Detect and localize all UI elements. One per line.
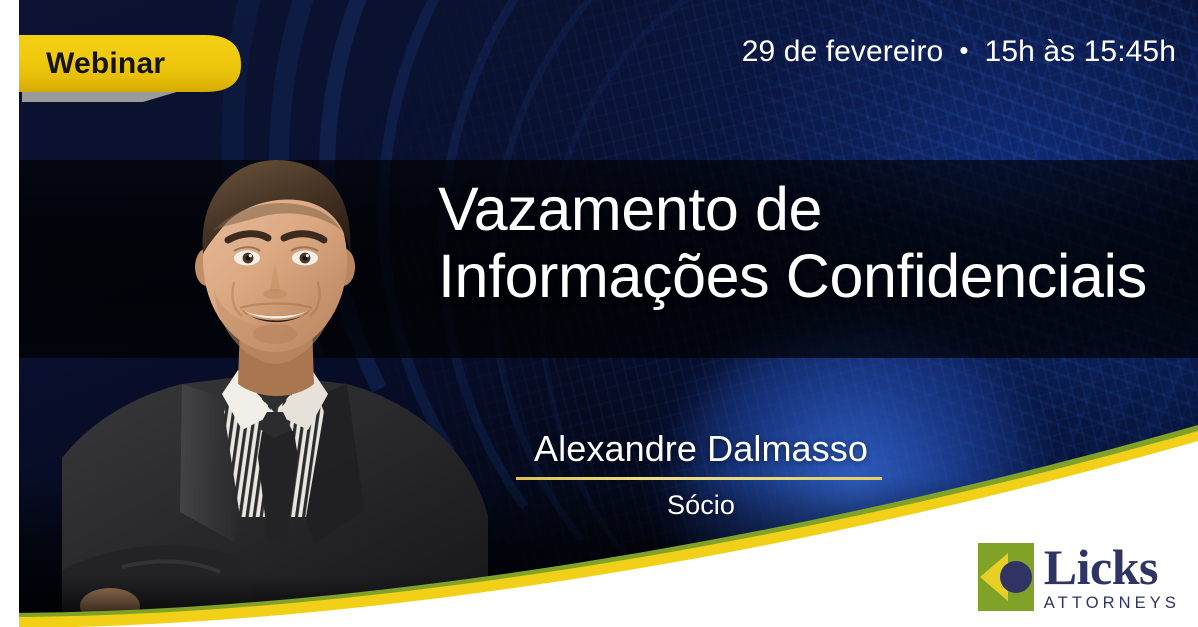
- logo-wordmark: Licks ATTORNEYS: [1044, 543, 1180, 613]
- webinar-banner: Webinar 29 de fevereiro • 15h às 15:45h …: [0, 0, 1198, 627]
- brazil-flag-mark-icon: [978, 543, 1034, 611]
- logo-tagline: ATTORNEYS: [1044, 594, 1180, 613]
- page-title: Vazamento de Informações Confidenciais: [438, 178, 1147, 309]
- schedule-date: 29 de fevereiro: [742, 35, 944, 69]
- licks-attorneys-logo: Licks ATTORNEYS: [978, 543, 1180, 613]
- schedule-line: 29 de fevereiro • 15h às 15:45h: [742, 35, 1176, 69]
- schedule-separator-dot: •: [959, 37, 968, 63]
- page-title-line1: Vazamento de: [438, 178, 1147, 241]
- schedule-time: 15h às 15:45h: [985, 35, 1176, 69]
- webinar-badge: Webinar: [0, 35, 241, 92]
- webinar-badge-label: Webinar: [46, 47, 165, 81]
- logo-name: Licks: [1044, 544, 1180, 591]
- page-title-line2: Informações Confidenciais: [438, 245, 1147, 308]
- left-margin-strip: [0, 0, 19, 627]
